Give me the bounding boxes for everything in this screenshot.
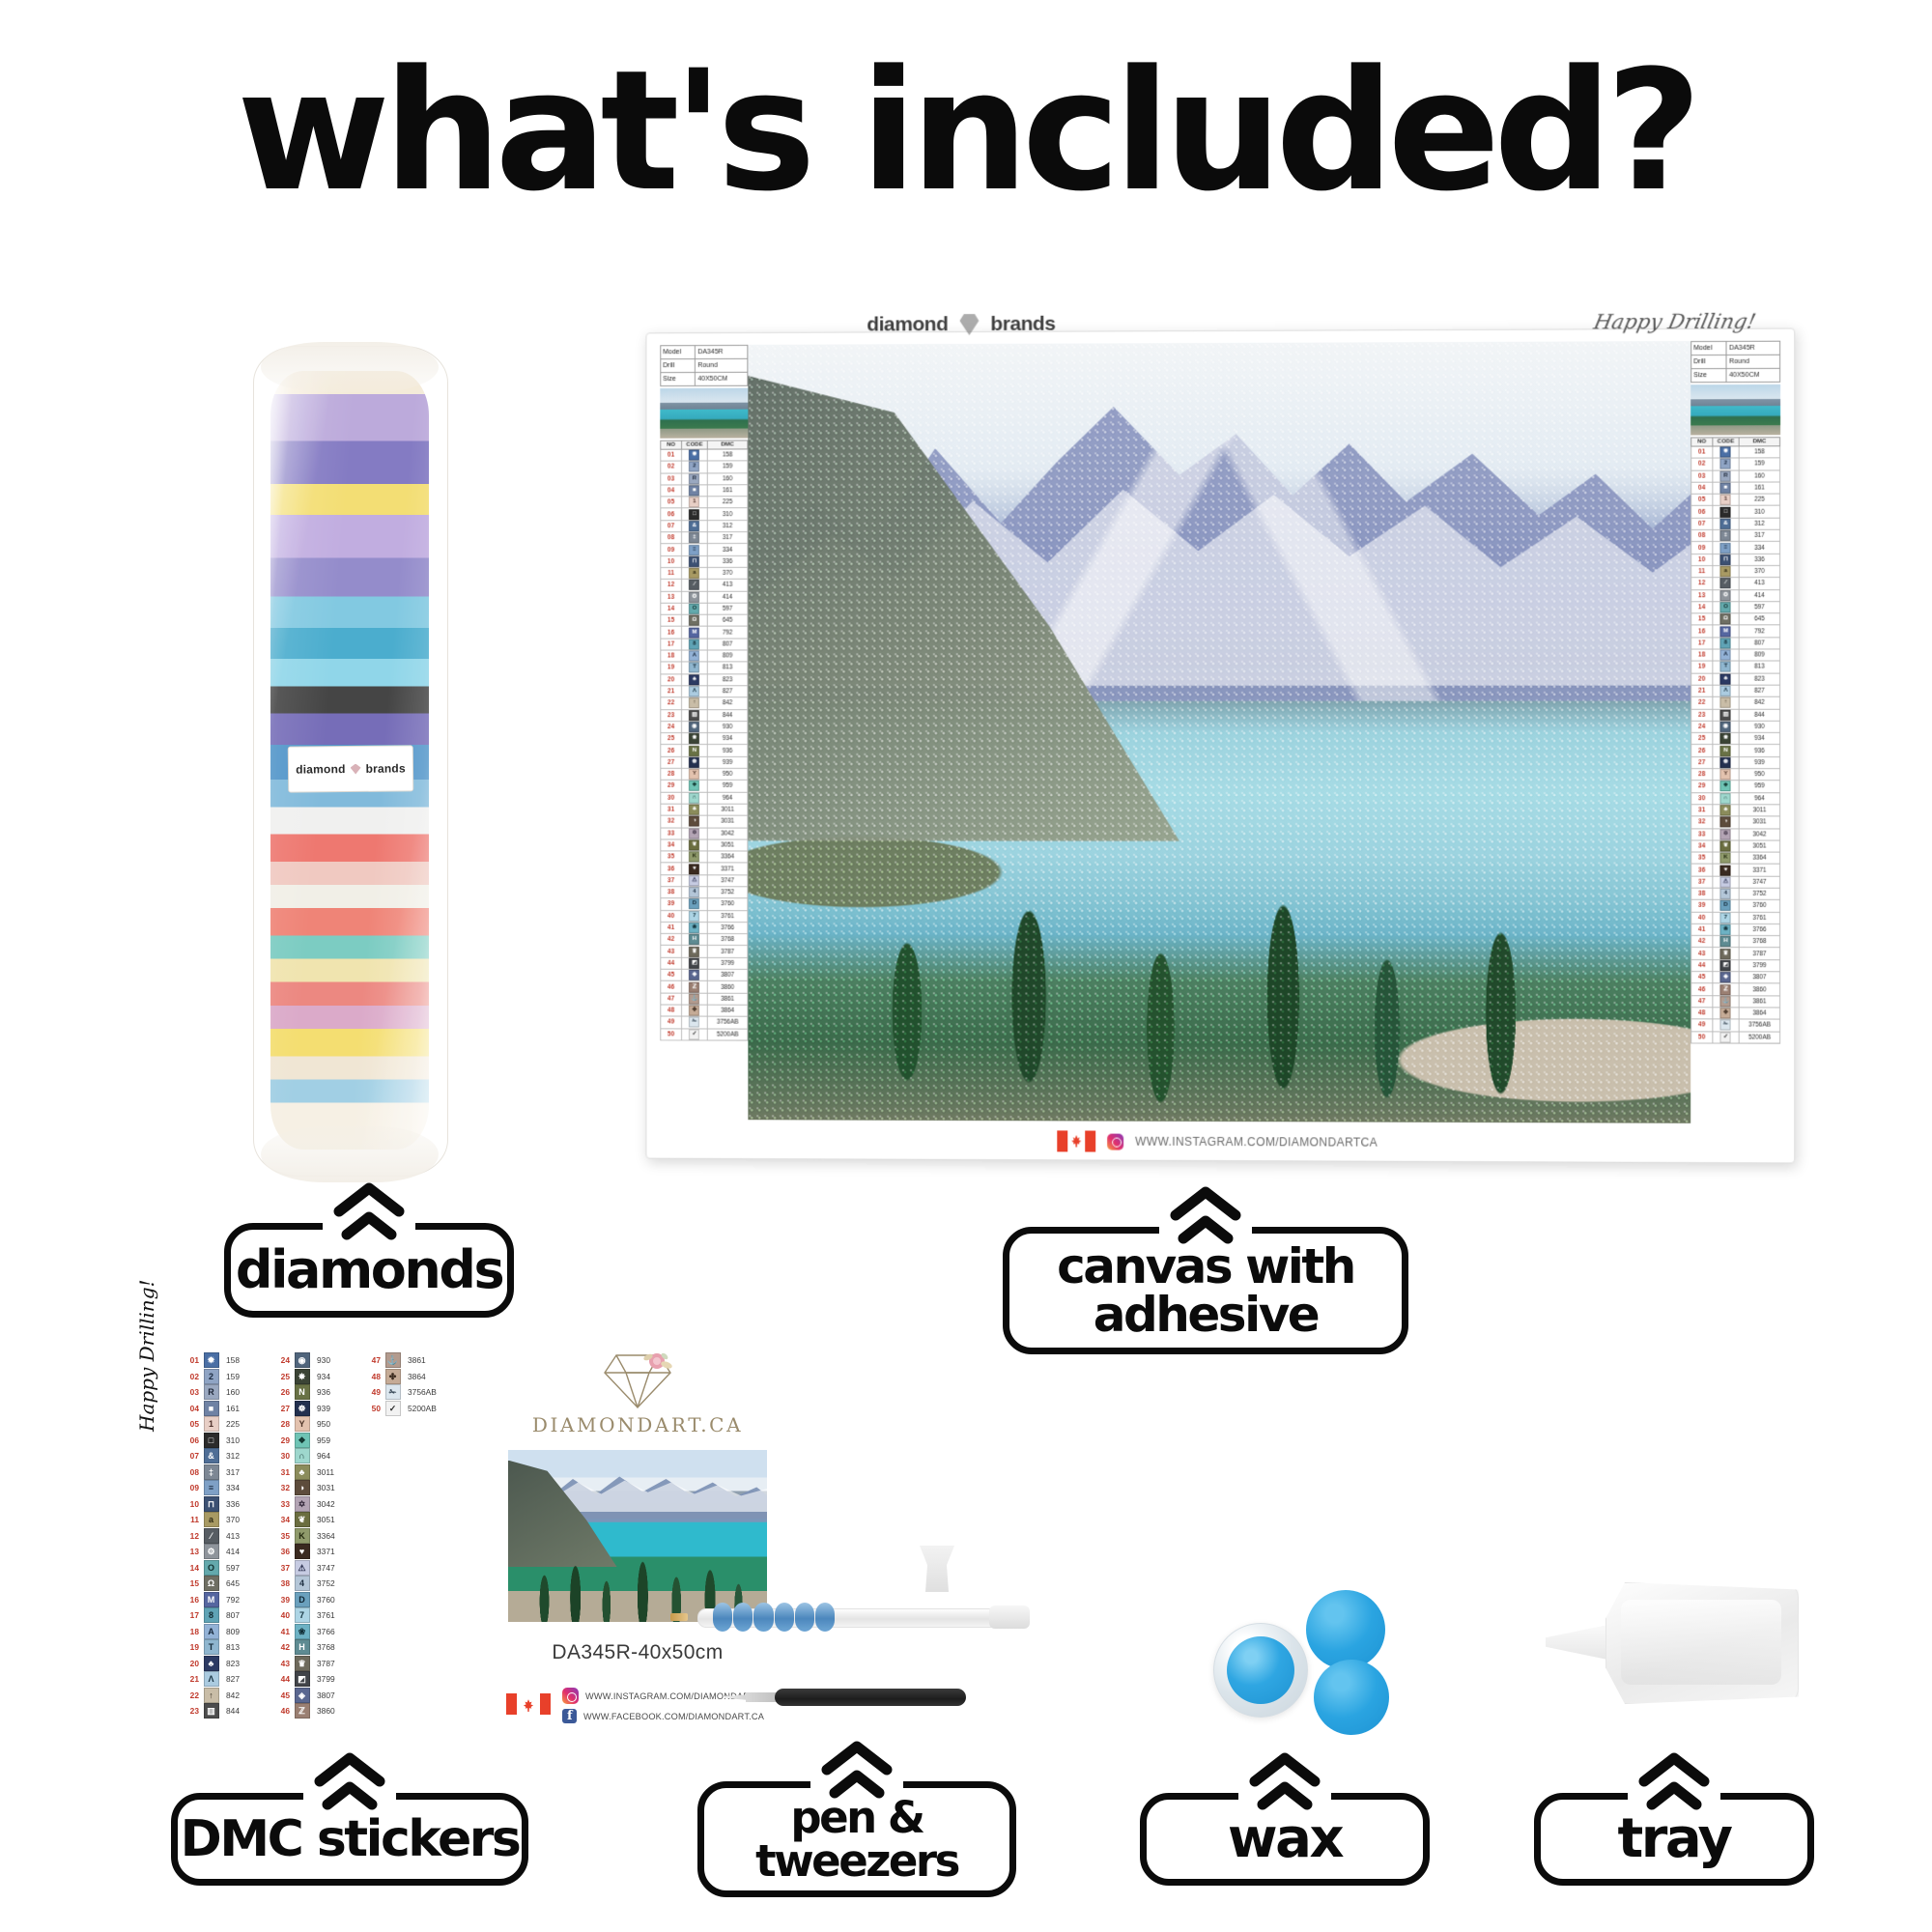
sticker-no: 49	[363, 1384, 383, 1401]
dmc-sticker-row: 36♥3371	[272, 1544, 350, 1560]
legend-no: 47	[1691, 995, 1713, 1007]
canvas-legend-row: 32◑3031	[1691, 816, 1780, 828]
sticker-color-swatch: 1	[204, 1416, 219, 1432]
legend-color-swatch: ♛	[689, 947, 699, 957]
sticker-dmc: 3031	[312, 1480, 350, 1496]
legend-color-swatch: ♣	[1720, 673, 1731, 684]
canvas-legend-row: 47⚓3861	[661, 993, 748, 1005]
legend-symbol: 1	[1713, 494, 1740, 505]
canvas-legend-row: 48✤3864	[661, 1005, 748, 1016]
legend-dmc: 413	[1739, 578, 1779, 589]
legend-color-swatch: ♣	[689, 805, 699, 815]
legend-dmc: 823	[707, 673, 747, 685]
sticker-dmc: 3752	[312, 1576, 350, 1592]
sticker-no: 17	[182, 1607, 201, 1624]
legend-color-swatch: ◑	[689, 816, 699, 827]
legend-color-swatch: ⊓	[689, 556, 699, 567]
canvas-legend-row: 01✹158	[661, 449, 748, 461]
pen-and-tweezers	[667, 1546, 1072, 1768]
legend-dmc: 334	[1739, 542, 1779, 554]
legend-color-swatch: 7	[1720, 913, 1731, 923]
canvas-legend-row: 13⚙414	[661, 591, 748, 603]
bag-tag-brand-left: diamond	[296, 762, 346, 777]
legend-symbol: ⚙	[1713, 589, 1740, 601]
callout-label-pen-line1: pen &	[790, 1796, 923, 1839]
canvas-legend-row: 49✁3756AB	[661, 1016, 748, 1028]
dmc-sticker-row: 13⚙414	[182, 1544, 259, 1560]
sticker-dmc: 3860	[312, 1703, 350, 1719]
legend-color-swatch: R	[1720, 470, 1731, 481]
legend-symbol: ✹	[681, 449, 707, 461]
legend-symbol: ✡	[1713, 828, 1740, 839]
legend-no: 22	[661, 697, 682, 709]
callout-tray: tray	[1534, 1750, 1814, 1886]
sticker-no: 42	[272, 1639, 292, 1656]
canvas-legend-row: 50✓5200AB	[661, 1028, 748, 1039]
canvas-preview-thumbnail	[660, 388, 748, 439]
canvas-legend-row: 34❦3051	[1691, 840, 1780, 852]
dmc-sticker-row: 37⚠3747	[272, 1560, 350, 1577]
legend-dmc: 3860	[1739, 983, 1779, 995]
canvas-meta-key: Size	[661, 372, 696, 385]
legend-symbol: ↑	[1713, 696, 1740, 708]
sticker-dmc: 959	[312, 1433, 350, 1449]
legend-no: 21	[661, 686, 682, 697]
sticker-symbol: ↑	[201, 1688, 221, 1704]
canvas-legend-row: 10⊓336	[1691, 554, 1780, 566]
sticker-symbol: a	[201, 1512, 221, 1528]
legend-symbol: ✡	[681, 828, 707, 839]
sticker-color-swatch: 2	[204, 1369, 219, 1384]
legend-dmc: 3371	[707, 863, 747, 874]
dmc-sticker-row: 48✤3864	[363, 1369, 440, 1385]
legend-no: 17	[1691, 638, 1713, 649]
legend-color-swatch: ∩	[1720, 793, 1731, 804]
canvas-legend-row: 16M792	[661, 627, 748, 639]
legend-symbol: R	[1713, 470, 1740, 482]
legend-symbol: ♣	[681, 804, 707, 815]
sticker-no: 36	[272, 1544, 292, 1560]
sticker-no: 33	[272, 1496, 292, 1513]
legend-no: 35	[661, 851, 682, 863]
legend-color-swatch: ↑	[1720, 697, 1731, 708]
dmc-sticker-row: 4073761	[272, 1607, 350, 1624]
sticker-symbol: A	[201, 1624, 221, 1640]
dmc-sticker-row: 26N936	[272, 1384, 350, 1401]
legend-dmc: 813	[707, 662, 747, 673]
legend-no: 20	[661, 674, 682, 686]
legend-no: 29	[661, 781, 682, 792]
sticker-symbol: Y	[292, 1416, 312, 1433]
canada-flag-icon	[1057, 1130, 1095, 1151]
sticker-color-swatch: ■	[204, 1401, 219, 1416]
sticker-symbol: T	[201, 1639, 221, 1656]
legend-no: 42	[661, 934, 682, 946]
sticker-symbol: ❦	[292, 1512, 312, 1528]
sticker-no: 13	[182, 1544, 201, 1560]
sticker-symbol: ⊓	[201, 1496, 221, 1513]
legend-color-swatch: ♥	[689, 864, 699, 874]
legend-dmc: 930	[1739, 721, 1779, 732]
legend-color-swatch: D	[689, 899, 699, 910]
legend-no: 23	[661, 709, 682, 721]
canvas-legend-row: 3843752	[1691, 888, 1780, 899]
legend-symbol: ♣	[1713, 673, 1740, 685]
legend-no: 13	[1691, 589, 1713, 601]
sticker-dmc: 3747	[312, 1560, 350, 1577]
legend-color-swatch: H	[1720, 936, 1731, 947]
legend-symbol: ⊓	[681, 555, 707, 567]
legend-dmc: 160	[1739, 470, 1779, 482]
sticker-color-swatch: Λ	[204, 1671, 219, 1687]
canvas-meta-key: Drill	[1691, 355, 1727, 368]
canvas-legend-row: 20♣823	[661, 673, 748, 685]
legend-symbol: &	[1713, 518, 1740, 529]
callout-box-diamonds: diamonds	[224, 1223, 514, 1318]
legend-color-swatch: ✓	[1720, 1032, 1731, 1042]
sticker-dmc: 3042	[312, 1496, 350, 1513]
canvas-meta-value: Round	[696, 358, 748, 372]
legend-color-swatch: ▥	[689, 710, 699, 721]
legend-dmc: 3747	[1739, 876, 1779, 888]
legend-no: 45	[661, 969, 682, 980]
legend-symbol: ✓	[681, 1028, 707, 1039]
legend-dmc: 844	[1739, 709, 1779, 721]
legend-symbol: ◉	[1713, 721, 1740, 732]
legend-dmc: 3787	[1739, 948, 1779, 959]
legend-symbol: D	[681, 898, 707, 910]
legend-symbol: ⚠	[681, 874, 707, 886]
legend-color-swatch: ☸	[1720, 757, 1731, 768]
legend-dmc: 3766	[1739, 923, 1779, 935]
canvas-legend-row: 022159	[661, 461, 748, 472]
legend-color-swatch: a	[1720, 566, 1731, 577]
canvas-meta-row: Size40X50CM	[1691, 368, 1780, 382]
legend-symbol: □	[1713, 506, 1740, 518]
legend-symbol: ≡	[681, 544, 707, 555]
sticker-no: 47	[363, 1352, 383, 1369]
sticker-symbol: 4	[292, 1576, 312, 1592]
sticker-symbol: 7	[292, 1607, 312, 1624]
legend-color-swatch: K	[689, 852, 699, 863]
legend-symbol: ⚓	[681, 993, 707, 1005]
legend-color-swatch: ↑	[689, 698, 699, 709]
legend-color-swatch: ✹	[689, 450, 699, 461]
callout-box-wax: wax	[1140, 1793, 1430, 1886]
sticker-symbol: ◩	[292, 1671, 312, 1688]
wax-disc-top	[1306, 1590, 1385, 1669]
dmc-sticker-row: 41❀3766	[272, 1624, 350, 1640]
legend-dmc: 934	[1739, 733, 1779, 745]
dmc-sticker-row: 32◑3031	[272, 1480, 350, 1496]
dmc-sticker-row: 16M792	[182, 1592, 259, 1608]
legend-color-swatch: T	[1720, 662, 1731, 672]
canvas-legend-row: 31♣3011	[1691, 805, 1780, 816]
legend-color-swatch: ✸	[1720, 733, 1731, 744]
legend-symbol: 2	[1713, 458, 1740, 469]
sticker-no: 01	[182, 1352, 201, 1369]
canvas-meta-value: DA345R	[1726, 341, 1779, 355]
legend-symbol: ■	[1713, 482, 1740, 494]
dmc-sticker-row: 44◩3799	[272, 1671, 350, 1688]
canvas-meta-key: Model	[1691, 341, 1727, 355]
sticker-no: 37	[272, 1560, 292, 1577]
sticker-symbol: ⚓	[383, 1352, 403, 1369]
canvas-legend-row: 43♛3787	[1691, 948, 1780, 960]
sticker-symbol: ♣	[292, 1464, 312, 1481]
page-title: what's included?	[0, 44, 1932, 219]
dmc-sticker-row: 21Λ827	[182, 1671, 259, 1688]
legend-symbol: ‡	[1713, 529, 1740, 541]
legend-color-swatch: 8	[1720, 638, 1731, 648]
canvas-legend-row: 44◩3799	[661, 957, 748, 969]
sticker-symbol: ♣	[201, 1656, 221, 1672]
legend-dmc: 3364	[1739, 852, 1779, 864]
sticker-symbol: □	[201, 1433, 221, 1449]
sticker-color-swatch: R	[204, 1384, 219, 1400]
legend-color-swatch: ◩	[1720, 960, 1731, 971]
legend-no: 39	[661, 898, 682, 910]
canvas-meta-table: ModelDA345RDrillRoundSize40X50CM	[660, 345, 748, 386]
legend-dmc: 3761	[1739, 912, 1779, 923]
canvas-brand-left: diamond	[867, 313, 948, 336]
legend-no: 04	[661, 485, 682, 497]
canvas-legend-header-cell: NO	[1691, 438, 1713, 446]
canvas-legend-row: 39D3760	[661, 898, 748, 910]
legend-no: 07	[661, 521, 682, 532]
legend-dmc: 842	[1739, 696, 1779, 708]
sticker-symbol: ❀	[292, 1624, 312, 1640]
legend-symbol: ✸	[1713, 733, 1740, 745]
legend-dmc: 792	[707, 627, 747, 639]
sticker-dmc: 930	[312, 1352, 350, 1369]
sticker-no: 09	[182, 1480, 201, 1496]
legend-no: 16	[661, 627, 682, 639]
canvas-legend-right: ModelDA345RDrillRoundSize40X50CM NOCODED…	[1690, 341, 1780, 1123]
legend-color-swatch: ❀	[689, 923, 699, 933]
legend-color-swatch: ◉	[1720, 722, 1731, 732]
legend-no: 38	[661, 887, 682, 898]
legend-dmc: 936	[707, 745, 747, 756]
legend-color-swatch: ⁄	[1720, 579, 1731, 589]
legend-dmc: 809	[1739, 649, 1779, 661]
canvas-legend-row: 46ℤ3860	[1691, 983, 1780, 996]
sticker-dmc: 5200AB	[403, 1401, 440, 1417]
legend-dmc: 3031	[707, 815, 747, 827]
sticker-symbol: &	[201, 1448, 221, 1464]
legend-color-swatch: Ω	[1720, 614, 1731, 625]
canvas-legend-row: 3843752	[661, 887, 748, 898]
legend-dmc: 161	[1739, 482, 1779, 494]
pen-grip	[713, 1603, 835, 1632]
legend-no: 03	[661, 473, 682, 485]
canvas-legend-row: 49✁3756AB	[1691, 1019, 1780, 1032]
legend-color-swatch: ‡	[689, 532, 699, 543]
legend-color-swatch: ✸	[689, 733, 699, 744]
legend-color-swatch: 1	[689, 497, 699, 508]
dmc-sticker-row: 15Ω645	[182, 1576, 259, 1592]
legend-symbol: ❀	[681, 922, 707, 933]
legend-color-swatch: 2	[689, 462, 699, 472]
canvas-meta-key: Size	[1691, 369, 1727, 383]
sticker-color-swatch: ✤	[385, 1369, 401, 1384]
dmc-sticker-row: 31♣3011	[272, 1464, 350, 1481]
sticker-no: 45	[272, 1688, 292, 1704]
bag-seal-bottom	[261, 1126, 439, 1182]
legend-dmc: 844	[707, 709, 747, 721]
legend-dmc: 930	[707, 721, 747, 732]
sticker-no: 32	[272, 1480, 292, 1496]
legend-dmc: 413	[707, 580, 747, 591]
dmc-sticker-row: 08‡317	[182, 1464, 259, 1481]
diamonds-bag: diamond brands	[253, 346, 446, 1177]
legend-no: 47	[661, 993, 682, 1005]
sticker-dmc: 936	[312, 1384, 350, 1401]
legend-dmc: 225	[1739, 494, 1779, 505]
legend-no: 44	[661, 957, 682, 969]
sticker-dmc: 414	[221, 1544, 259, 1560]
canvas-legend-row: 22↑842	[1691, 696, 1780, 708]
legend-color-swatch: &	[1720, 519, 1731, 529]
legend-dmc: 317	[707, 532, 747, 544]
tweezers-handle	[775, 1689, 966, 1706]
sticker-no: 20	[182, 1656, 201, 1672]
canvas-legend-row: 30∩964	[661, 792, 748, 804]
canvas-legend-row: 4073761	[661, 910, 748, 922]
canada-flag-icon	[506, 1693, 551, 1719]
legend-dmc: 414	[707, 591, 747, 603]
legend-symbol: ℤ	[681, 981, 707, 993]
legend-dmc: 334	[707, 544, 747, 555]
canvas-legend-row: 051225	[661, 497, 748, 508]
legend-no: 02	[1691, 458, 1713, 469]
sticker-symbol: ✓	[383, 1401, 403, 1417]
legend-symbol: ■	[681, 485, 707, 497]
dmc-sticker-row: 24◉930	[272, 1352, 350, 1369]
legend-symbol: 8	[1713, 638, 1740, 649]
canvas-brandmark: diamond brands	[867, 313, 1055, 337]
sticker-color-swatch: ◩	[295, 1671, 310, 1687]
legend-symbol: ◩	[681, 957, 707, 969]
legend-dmc: 3760	[1739, 900, 1779, 912]
legend-dmc: 645	[707, 614, 747, 626]
sticker-no: 39	[272, 1592, 292, 1608]
sticker-dmc: 3760	[312, 1592, 350, 1608]
canvas-legend-row: 34❦3051	[661, 839, 748, 851]
canvas-legend-row: 42H3768	[1691, 936, 1780, 949]
sticker-dmc: 334	[221, 1480, 259, 1496]
sticker-color-swatch: &	[204, 1448, 219, 1463]
legend-dmc: 3031	[1739, 816, 1779, 828]
dmc-sticker-row: 03R160	[182, 1384, 259, 1401]
legend-color-swatch: ◈	[1720, 972, 1731, 982]
canvas-legend-row: 06□310	[661, 508, 748, 520]
sticker-no: 24	[272, 1352, 292, 1369]
dmc-sticker-row: 50✓5200AB	[363, 1401, 440, 1417]
sticker-color-swatch: ◑	[295, 1480, 310, 1495]
legend-symbol: ⚓	[1713, 995, 1740, 1007]
canvas-legend-row: 27☸939	[1691, 756, 1780, 768]
legend-symbol: ✤	[1713, 1008, 1740, 1019]
dmc-sticker-row: 01✹158	[182, 1352, 259, 1369]
legend-dmc: 317	[1739, 529, 1779, 541]
legend-no: 50	[1691, 1031, 1713, 1042]
legend-symbol: 4	[681, 887, 707, 898]
legend-symbol: ✁	[681, 1016, 707, 1028]
canvas-legend-row: 31♣3011	[661, 804, 748, 815]
sticker-no: 03	[182, 1384, 201, 1401]
legend-symbol: Λ	[681, 686, 707, 697]
canvas-legend-row: 39D3760	[1691, 900, 1780, 913]
sticker-color-swatch: ∩	[295, 1448, 310, 1463]
dmc-sticker-row: 33✡3042	[272, 1496, 350, 1513]
legend-color-swatch: 4	[1720, 889, 1731, 899]
legend-color-swatch: a	[689, 568, 699, 579]
legend-color-swatch: ℤ	[1720, 984, 1731, 995]
canvas-meta-row: ModelDA345R	[661, 345, 748, 358]
canvas-footer-instagram-url: WWW.INSTAGRAM.COM/DIAMONDARTCA	[1135, 1135, 1378, 1150]
canvas-legend-row: 14O597	[1691, 602, 1780, 613]
sticker-dmc: 823	[221, 1656, 259, 1672]
product-card-brand: DIAMONDART.CA	[493, 1413, 782, 1436]
sticker-no: 35	[272, 1528, 292, 1545]
legend-symbol: &	[681, 520, 707, 531]
dmc-sticker-row: 42H3768	[272, 1639, 350, 1656]
sticker-dmc: 3011	[312, 1464, 350, 1481]
legend-dmc: 3756AB	[1739, 1019, 1779, 1031]
callout-label-dmc: DMC stickers	[181, 1814, 520, 1864]
legend-dmc: 158	[707, 449, 747, 461]
sticker-dmc: 3371	[312, 1544, 350, 1560]
legend-color-swatch: A	[1720, 650, 1731, 661]
sticker-color-swatch: D	[295, 1592, 310, 1607]
canvas-legend-row: 41❀3766	[661, 922, 748, 933]
legend-dmc: 3861	[707, 993, 747, 1005]
legend-no: 33	[661, 828, 682, 839]
sticker-color-swatch: ✹	[204, 1352, 219, 1368]
canvas-legend-row: 37⚠3747	[661, 874, 748, 886]
sticker-no: 50	[363, 1401, 383, 1417]
canvas-legend-header: NOCODEDMC	[661, 440, 748, 449]
dmc-column-1: 01✹15802215903R16004■16105122506□31007&3…	[182, 1352, 259, 1719]
sticker-color-swatch: ‡	[204, 1464, 219, 1480]
sticker-no: 41	[272, 1624, 292, 1640]
legend-no: 30	[661, 792, 682, 804]
canvas-legend-row: 28Y950	[661, 768, 748, 780]
callout-label-tray: tray	[1618, 1812, 1731, 1866]
sticker-color-swatch: ⚠	[295, 1560, 310, 1576]
sticker-dmc: 3761	[312, 1607, 350, 1624]
diamond-icon	[351, 763, 361, 774]
legend-dmc: 159	[707, 461, 747, 472]
legend-no: 10	[661, 555, 682, 567]
dmc-sticker-row: 25✸934	[272, 1369, 350, 1385]
sticker-color-swatch: ❦	[295, 1512, 310, 1527]
legend-dmc: 3371	[1739, 865, 1779, 876]
legend-dmc: 310	[1739, 506, 1779, 518]
legend-no: 25	[661, 733, 682, 745]
sticker-dmc: 842	[221, 1688, 259, 1704]
legend-dmc: 3042	[1739, 828, 1779, 839]
sticker-dmc: 597	[221, 1560, 259, 1577]
legend-symbol: ⁄	[1713, 578, 1740, 589]
dmc-sticker-row: 47⚓3861	[363, 1352, 440, 1369]
canvas-legend-row: 47⚓3861	[1691, 995, 1780, 1008]
sticker-no: 30	[272, 1448, 292, 1464]
legend-symbol: ❀	[1713, 923, 1740, 935]
callout-box-tray: tray	[1534, 1793, 1814, 1886]
canvas-legend-row: 26N936	[661, 745, 748, 756]
